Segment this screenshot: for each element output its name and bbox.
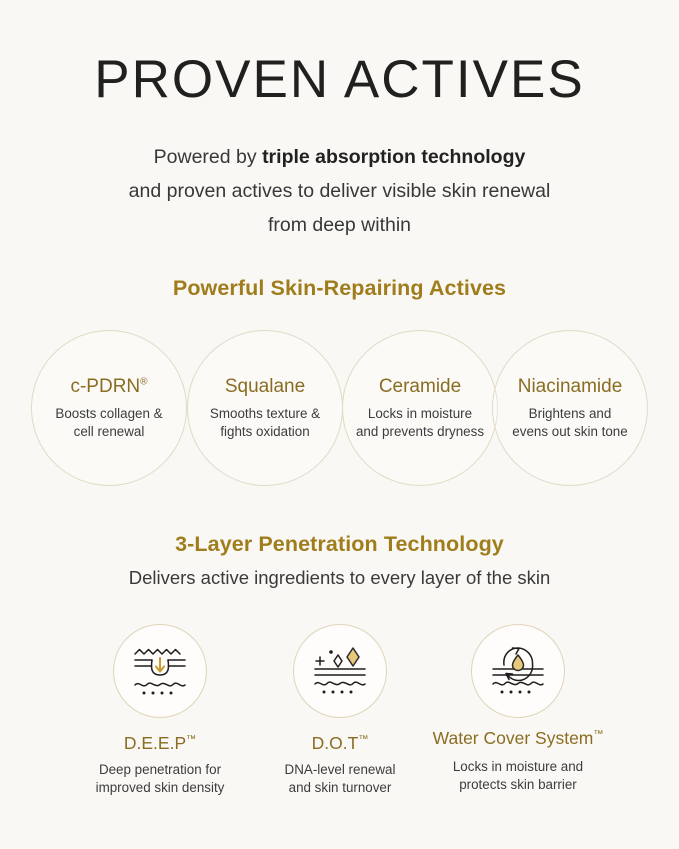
sparkle-renewal-icon (311, 645, 369, 697)
dots-group (143, 692, 173, 695)
technology-icon-circle (471, 624, 565, 718)
technology-item-water-cover-system: Water Cover System™ Locks in moisture an… (418, 624, 618, 793)
actives-section-heading: Powerful Skin-Repairing Actives (0, 276, 679, 301)
subtitle-line-1-bold: triple absorption technology (262, 146, 525, 168)
trademark-mark-icon: ™ (358, 734, 368, 745)
dots-group (501, 691, 531, 694)
down-arrow-icon (156, 658, 164, 672)
active-description: Boosts collagen & cell renewal (55, 405, 162, 440)
subtitle-line-1: Powered by triple absorption technology (0, 140, 679, 174)
registered-mark-icon: ® (140, 377, 147, 388)
technology-name-text: Water Cover System (433, 728, 594, 748)
trademark-mark-icon: ™ (186, 734, 196, 745)
active-name: Ceramide (379, 376, 461, 398)
active-circle-niacinamide: Niacinamide Brightens and evens out skin… (492, 330, 648, 486)
active-circle-ceramide: Ceramide Locks in moisture and prevents … (342, 330, 498, 486)
technology-list: D.E.E.P™ Deep penetration for improved s… (0, 624, 679, 824)
active-description: Smooths texture & fights oxidation (210, 405, 320, 440)
skin-pore-penetration-icon (131, 645, 189, 697)
page-title: PROVEN ACTIVES (0, 50, 679, 110)
subtitle-line-2: and proven actives to deliver visible sk… (0, 174, 679, 208)
layers-section-heading: 3-Layer Penetration Technology (0, 532, 679, 557)
subtitle-line-1-prefix: Powered by (154, 146, 262, 168)
technology-name: Water Cover System™ (433, 728, 604, 749)
small-dot-sparkle-icon (329, 650, 333, 654)
subtitle-block: Powered by triple absorption technology … (0, 140, 679, 242)
subtitle-line-3: from deep within (0, 208, 679, 242)
active-name: c-PDRN® (70, 376, 147, 398)
technology-item-dot: D.O.T™ DNA-level renewal and skin turnov… (240, 624, 440, 796)
technology-description: Deep penetration for improved skin densi… (96, 761, 225, 796)
trademark-mark-icon: ™ (593, 729, 603, 740)
active-name-text: c-PDRN (70, 376, 140, 397)
active-name-text: Ceramide (379, 376, 461, 397)
active-circle-squalane: Squalane Smooths texture & fights oxidat… (187, 330, 343, 486)
active-circle-c-pdrn: c-PDRN® Boosts collagen & cell renewal (31, 330, 187, 486)
active-name: Squalane (225, 376, 305, 398)
diamond-sparkle-gold-icon (347, 648, 359, 666)
diamond-sparkle-outline-icon (334, 655, 342, 667)
technology-name: D.O.T™ (312, 733, 369, 754)
active-description: Brightens and evens out skin tone (512, 405, 627, 440)
technology-name-text: D.E.E.P (124, 733, 186, 753)
layers-section-subheading: Delivers active ingredients to every lay… (0, 567, 679, 589)
technology-name: D.E.E.P™ (124, 733, 196, 754)
technology-description: DNA-level renewal and skin turnover (285, 761, 396, 796)
technology-name-text: D.O.T (312, 733, 359, 753)
technology-icon-circle (113, 624, 207, 718)
actives-list: c-PDRN® Boosts collagen & cell renewal S… (0, 330, 679, 490)
active-name: Niacinamide (518, 376, 623, 398)
technology-item-deep: D.E.E.P™ Deep penetration for improved s… (60, 624, 260, 796)
active-name-text: Squalane (225, 376, 305, 397)
active-name-text: Niacinamide (518, 376, 623, 397)
technology-icon-circle (293, 624, 387, 718)
water-droplet-icon (513, 655, 524, 671)
water-circulation-droplet-icon (489, 645, 547, 697)
plus-sparkle-icon (316, 657, 324, 665)
active-description: Locks in moisture and prevents dryness (356, 405, 484, 440)
infographic-page: PROVEN ACTIVES Powered by triple absorpt… (0, 0, 679, 849)
dots-group (323, 691, 353, 694)
technology-description: Locks in moisture and protects skin barr… (453, 758, 583, 793)
